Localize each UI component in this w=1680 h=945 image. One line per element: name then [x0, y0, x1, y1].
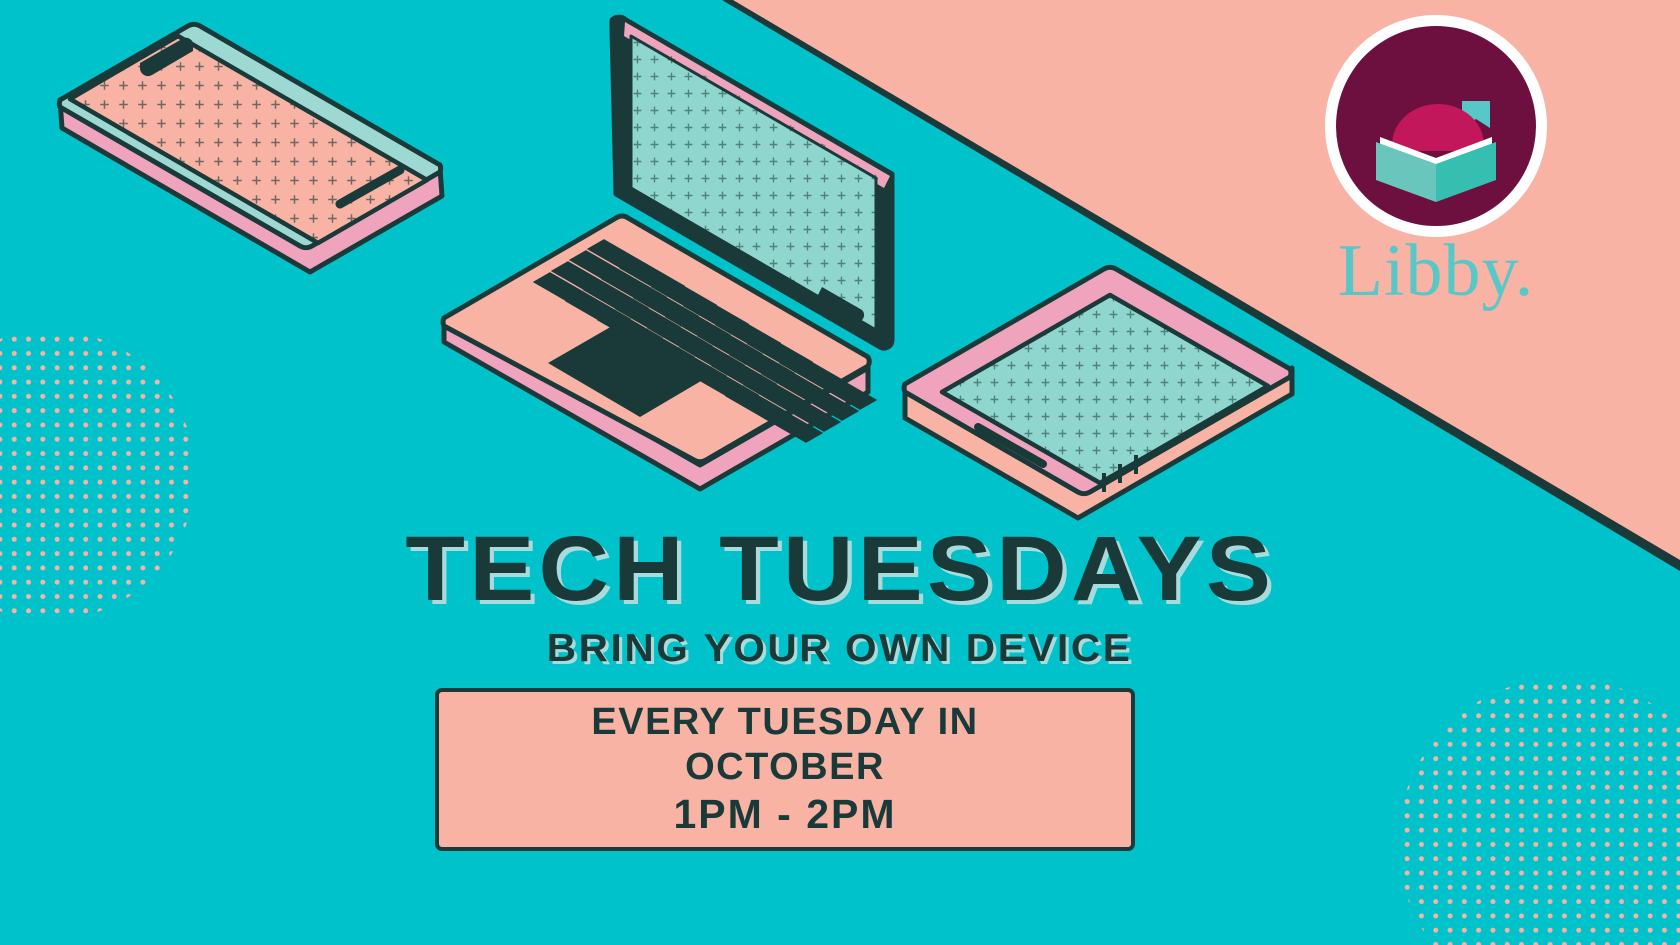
- event-schedule-line-1: EVERY TUESDAY IN: [591, 700, 978, 744]
- headline-container: TECH TUESDAYS: [0, 523, 1680, 615]
- poster-canvas: TECH TUESDAYS BRING YOUR OWN DEVICE EVER…: [0, 0, 1680, 945]
- laptop-illustration: [443, 17, 900, 489]
- libby-wordmark: Libby.: [1316, 234, 1556, 308]
- subtitle-container: BRING YOUR OWN DEVICE: [0, 629, 1680, 668]
- page-title: TECH TUESDAYS: [405, 523, 1275, 615]
- event-time: 1PM - 2PM: [673, 791, 896, 839]
- event-schedule-line-2: OCTOBER: [685, 745, 885, 789]
- event-details-box: EVERY TUESDAY IN OCTOBER 1PM - 2PM: [435, 688, 1135, 851]
- page-subtitle: BRING YOUR OWN DEVICE: [547, 629, 1133, 668]
- smartphone-illustration: [59, 24, 460, 272]
- libby-logo-icon: [1322, 12, 1550, 240]
- libby-brand-block: Libby.: [1316, 12, 1556, 342]
- tablet-illustration: [904, 267, 1292, 518]
